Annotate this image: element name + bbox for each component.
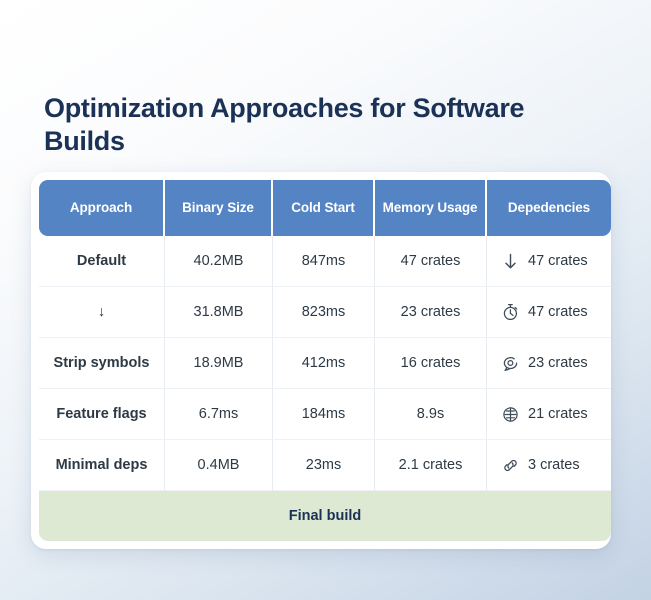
table-row[interactable]: Minimal deps 0.4MB 23ms 2.1 crates [39,440,611,491]
cell-approach: Strip symbols [39,338,165,389]
cell-binary-size: 31.8MB [165,287,273,338]
cell-dependencies: 47 crates [487,287,611,338]
cell-memory-usage: 23 crates [375,287,487,338]
column-header-binary-size[interactable]: Binary Size [165,180,273,236]
cell-memory-usage: 8.9s [375,389,487,440]
chat-bubble-icon [501,354,519,372]
cell-cold-start: 823ms [273,287,375,338]
table-header: Approach Binary Size Cold Start Memory U… [39,180,611,236]
cell-binary-size: 0.4MB [165,440,273,491]
column-header-dependencies[interactable]: Depedencies [487,180,611,236]
table-row[interactable]: Default 40.2MB 847ms 47 crates [39,236,611,287]
cell-binary-size: 18.9MB [165,338,273,389]
table-body: Default 40.2MB 847ms 47 crates [39,236,611,541]
dependencies-value: 47 crates [528,304,588,320]
final-build-label: Final build [289,508,362,524]
cell-memory-usage: 2.1 crates [375,440,487,491]
cell-approach: ↓ [39,287,165,338]
final-build-cell: Final build [39,491,611,541]
dependencies-value: 21 crates [528,406,588,422]
brain-icon [501,405,519,423]
table-header-row: Approach Binary Size Cold Start Memory U… [39,180,611,236]
cell-dependencies: 23 crates [487,338,611,389]
page-root: Optimization Approaches for Software Bui… [0,0,651,600]
table-row[interactable]: Feature flags 6.7ms 184ms 8.9s [39,389,611,440]
down-arrow-icon [501,252,519,270]
table-footer-row[interactable]: Final build [39,491,611,541]
optimization-table: Approach Binary Size Cold Start Memory U… [39,180,611,541]
cell-approach: Default [39,236,165,287]
cell-approach: Feature flags [39,389,165,440]
cell-memory-usage: 16 crates [375,338,487,389]
cell-dependencies: 3 crates [487,440,611,491]
table-row[interactable]: ↓ 31.8MB 823ms 23 crates [39,287,611,338]
dependencies-value: 47 crates [528,253,588,269]
column-header-memory-usage[interactable]: Memory Usage [375,180,487,236]
page-title: Optimization Approaches for Software Bui… [44,92,564,158]
comparison-table-card: Approach Binary Size Cold Start Memory U… [31,172,611,549]
cell-dependencies: 47 crates [487,236,611,287]
cell-cold-start: 412ms [273,338,375,389]
column-header-approach[interactable]: Approach [39,180,165,236]
cell-binary-size: 40.2MB [165,236,273,287]
stopwatch-icon [501,303,519,321]
cell-binary-size: 6.7ms [165,389,273,440]
link-icon [501,456,519,474]
dependencies-value: 3 crates [528,457,580,473]
table-row[interactable]: Strip symbols 18.9MB 412ms 16 crates [39,338,611,389]
cell-cold-start: 184ms [273,389,375,440]
cell-cold-start: 847ms [273,236,375,287]
column-header-cold-start[interactable]: Cold Start [273,180,375,236]
cell-memory-usage: 47 crates [375,236,487,287]
cell-approach: Minimal deps [39,440,165,491]
cell-cold-start: 23ms [273,440,375,491]
cell-dependencies: 21 crates [487,389,611,440]
dependencies-value: 23 crates [528,355,588,371]
